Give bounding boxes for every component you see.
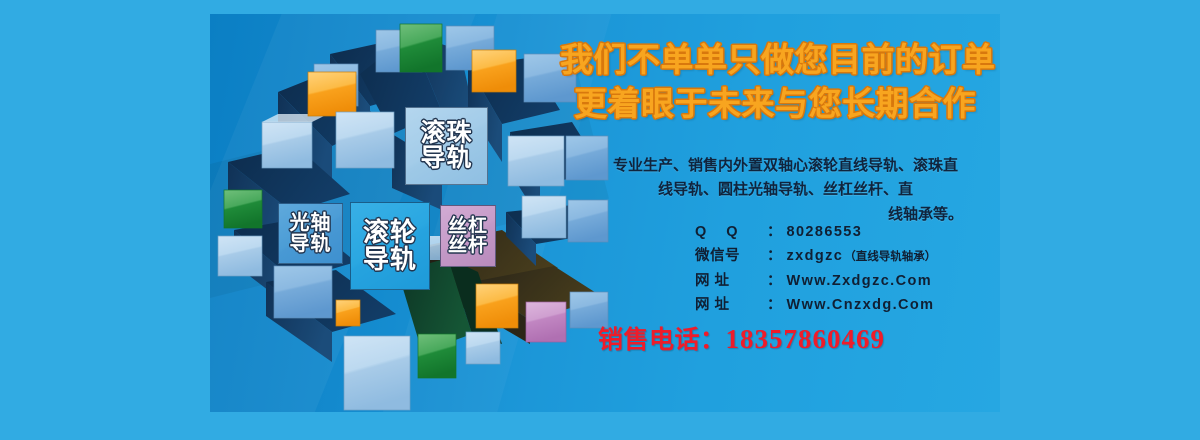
sales-phone-label: 销售电话：	[598, 326, 726, 354]
contact-colon-qq: ：	[767, 221, 782, 243]
contact-value-qq[interactable]: 80286553	[787, 221, 863, 243]
exploding-cubes-graphic: 滚珠 导轨 光轴 导轨 滚轮 导轨 丝杠 丝杆	[210, 14, 610, 412]
sales-phone-number[interactable]: 18357860469	[726, 324, 886, 354]
contact-row-website-2: 网 址 ： Www.Cnzxdg.Com	[695, 294, 995, 316]
product-cube-gunlun-line2: 导轨	[363, 246, 417, 273]
product-cube-guangzhou-line2: 导轨	[290, 234, 332, 254]
description-text: 专业生产、销售内外置双轴心滚轮直线导轨、滚珠直线导轨、圆柱光轴导轨、丝杠丝杆、直…	[608, 154, 963, 227]
banner-text-column: 我们不单单只做您目前的订单 更着眼于未来与您长期合作 专业生产、销售内外置双轴心…	[560, 14, 990, 412]
contact-row-wechat: 微信号 ： zxdgzc （直线导轨轴承）	[695, 245, 995, 267]
headline-line-2: 更着眼于未来与您长期合作	[560, 82, 990, 126]
product-cube-sigang-line2: 丝杆	[448, 236, 488, 255]
contact-colon-website-2: ：	[767, 294, 782, 316]
contact-value-website-1[interactable]: Www.Zxdgzc.Com	[787, 270, 933, 292]
headline-line-1: 我们不单单只做您目前的订单	[560, 38, 990, 82]
product-cube-sigang[interactable]: 丝杠 丝杆	[440, 205, 496, 267]
contact-label-website-1: 网 址	[695, 270, 767, 292]
contact-value-wechat[interactable]: zxdgzc	[787, 245, 844, 267]
contact-row-website-1: 网 址 ： Www.Zxdgzc.Com	[695, 270, 995, 292]
contact-note-wechat: （直线导轨轴承）	[844, 249, 936, 267]
banner-page: 滚珠 导轨 光轴 导轨 滚轮 导轨 丝杠 丝杆 我们不单单只做您目前的订单 更着…	[0, 0, 1200, 440]
product-cube-gunlun-line1: 滚轮	[363, 219, 417, 246]
contact-value-website-2[interactable]: Www.Cnzxdg.Com	[787, 294, 935, 316]
product-cube-sigang-line1: 丝杠	[448, 217, 488, 236]
product-cube-gunzhu[interactable]: 滚珠 导轨	[405, 107, 488, 185]
contact-row-qq: Q Q ： 80286553	[695, 221, 995, 243]
promo-banner: 滚珠 导轨 光轴 导轨 滚轮 导轨 丝杠 丝杆 我们不单单只做您目前的订单 更着…	[210, 14, 1000, 412]
description-line-1: 专业生产、销售内外置双轴心滚轮直线导轨、	[613, 157, 913, 174]
product-cube-guangzhou[interactable]: 光轴 导轨	[278, 203, 343, 264]
product-cube-gunzhu-line1: 滚珠	[420, 121, 472, 147]
contact-label-qq: Q Q	[695, 221, 767, 243]
contact-block: Q Q ： 80286553 微信号 ： zxdgzc （直线导轨轴承） 网 址…	[695, 221, 995, 319]
contact-label-website-2: 网 址	[695, 294, 767, 316]
sales-phone[interactable]: 销售电话：18357860469	[598, 320, 998, 356]
contact-colon-wechat: ：	[767, 245, 782, 267]
headline: 我们不单单只做您目前的订单 更着眼于未来与您长期合作	[560, 38, 990, 126]
product-cube-guangzhou-line1: 光轴	[290, 213, 332, 233]
product-cube-gunzhu-line2: 导轨	[420, 146, 472, 172]
contact-label-wechat: 微信号	[695, 245, 767, 267]
product-cube-gunlun[interactable]: 滚轮 导轨	[350, 202, 430, 290]
contact-colon-website-1: ：	[767, 270, 782, 292]
